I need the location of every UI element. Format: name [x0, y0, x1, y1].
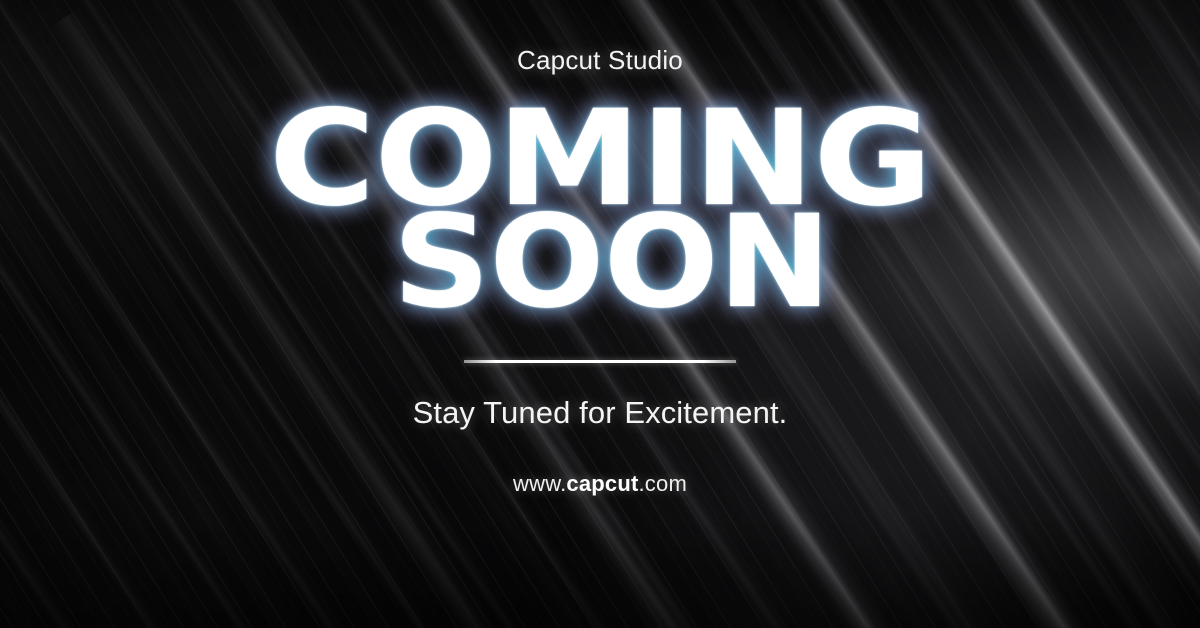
url-name: capcut: [566, 471, 638, 496]
poster-content: Capcut Studio COMING COMING COMING COMIN…: [0, 0, 1200, 628]
url-tld: .com: [639, 471, 687, 496]
brand-title: Capcut Studio: [517, 45, 683, 76]
headline-block: COMING COMING COMING COMING COMING SOON …: [299, 104, 901, 316]
divider-rule: [464, 360, 736, 363]
url-prefix: www.: [513, 471, 566, 496]
website-url[interactable]: www.capcut.com: [513, 471, 687, 497]
coming-soon-poster: Capcut Studio COMING COMING COMING COMIN…: [0, 0, 1200, 628]
tagline-text: Stay Tuned for Excitement.: [413, 395, 788, 431]
headline-line-soon: SOON SOON SOON SOON SOON: [405, 209, 818, 317]
headline-soon-text: SOON: [392, 209, 830, 317]
